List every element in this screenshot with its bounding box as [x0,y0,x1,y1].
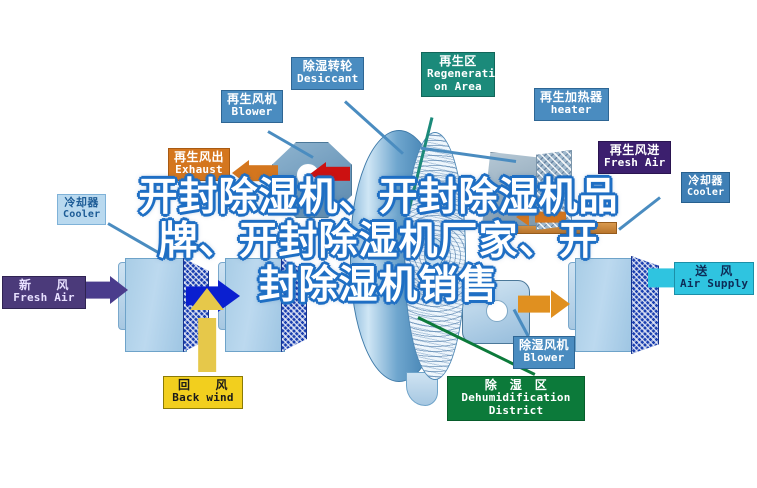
label-air-supply-cn: 送 风 [680,265,748,278]
leader-cooler-right [618,196,661,230]
arrow-supply-blower-in [518,290,570,318]
label-regen-heater[interactable]: 再生加热器 heater [534,88,609,121]
label-desiccant-wheel[interactable]: 除湿转轮 Desiccant [291,57,364,90]
label-air-supply[interactable]: 送 风 Air Supply [674,262,754,295]
label-cooler-left[interactable]: 冷却器 Cooler [57,194,106,225]
arrow-back-wind [190,288,224,372]
arrow-regen-inlet [516,208,566,226]
label-regen-air-in-cn: 再生风进 [604,144,665,157]
label-air-supply-en: Air Supply [680,278,748,290]
label-regen-blower-en: Blower [227,106,277,118]
label-regen-air-in[interactable]: 再生风进 Fresh Air [598,141,671,174]
label-regen-blower-cn: 再生风机 [227,93,277,106]
label-fresh-air-cn: 新 风 [8,279,80,292]
supply-blower-hub [486,300,508,322]
label-cooler-left-cn: 冷却器 [63,197,100,209]
label-fresh-air[interactable]: 新 风 Fresh Air [2,276,86,309]
arrow-regen-core [310,162,350,186]
diagram-canvas: 除湿转轮 Desiccant 再生风机 Blower 再生区 Regenerat… [0,0,757,488]
label-exhaust-en: Exhaust [174,164,224,176]
label-dehumid-district-en1: Dehumidification [453,392,579,404]
label-regen-area-en2: on Area [427,81,489,93]
label-exhaust[interactable]: 再生风出 Exhaust [168,148,230,181]
label-dehumid-district-cn: 除 湿 区 [453,379,579,392]
cooler-mesh-mid [281,258,307,352]
label-cooler-right-cn: 冷却器 [687,175,724,187]
label-dehumid-blower[interactable]: 除湿风机 Blower [513,336,575,369]
label-dehumid-district[interactable]: 除 湿 区 Dehumidification District [447,376,585,421]
label-regen-area-cn: 再生区 [427,55,489,68]
label-regen-area[interactable]: 再生区 Regenerati on Area [421,52,495,97]
label-back-wind[interactable]: 回 风 Back wind [163,376,243,409]
label-regen-heater-cn: 再生加热器 [540,91,603,104]
label-regen-air-in-en: Fresh Air [604,157,665,169]
label-desiccant-wheel-cn: 除湿转轮 [297,60,358,73]
arrow-exhaust-out [232,160,278,186]
label-regen-area-en1: Regenerati [427,68,489,80]
label-exhaust-cn: 再生风出 [174,151,224,164]
label-back-wind-en: Back wind [169,392,237,404]
label-dehumid-blower-en: Blower [519,352,569,364]
label-back-wind-cn: 回 风 [169,379,237,392]
label-desiccant-wheel-en: Desiccant [297,73,358,85]
cooler-coil-left [125,258,185,350]
leader-cooler-left [107,222,171,261]
rotor-hub [424,238,444,268]
label-fresh-air-en: Fresh Air [8,292,80,304]
label-cooler-right[interactable]: 冷却器 Cooler [681,172,730,203]
cooler-coil-right [575,258,633,350]
arrow-fresh-air-in [86,276,128,304]
label-dehumid-district-en2: District [453,405,579,417]
label-cooler-right-en: Cooler [687,187,724,198]
label-cooler-left-en: Cooler [63,209,100,220]
label-regen-blower[interactable]: 再生风机 Blower [221,90,283,123]
label-regen-heater-en: heater [540,104,603,116]
label-dehumid-blower-cn: 除湿风机 [519,339,569,352]
